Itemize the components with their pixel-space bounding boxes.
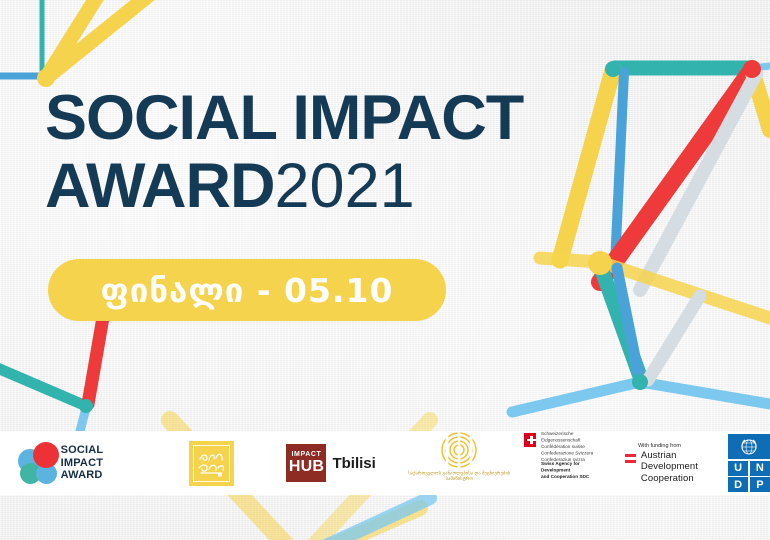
austrian-wordmark-line-2: Development (641, 461, 698, 473)
austrian-funding-note: With funding from (638, 442, 713, 448)
austrian-flag-stripe-bottom (625, 460, 636, 463)
swiss-agency-subtitle: Swiss Agency for Development and Coopera… (541, 461, 603, 480)
partner-logo-bar: SOCIAL IMPACT AWARD (0, 431, 770, 495)
swiss-subtitle-line-2: and Cooperation SDC (541, 473, 603, 479)
event-date-badge: ფინალი - 05.10 (48, 259, 446, 321)
impact-hub-mark-top: IMPACT (292, 451, 322, 458)
austrian-wordmark: Austrian Development Cooperation (641, 450, 698, 485)
headline-line-2: AWARD2021 (45, 156, 523, 216)
swiss-text-block: Schweizerische Eidgenossenschaft Confédé… (541, 431, 589, 475)
swiss-subtitle-line-1: Swiss Agency for Development (541, 461, 603, 474)
un-globe-wreath-icon (739, 437, 759, 457)
austrian-logo-row: Austrian Development Cooperation (625, 450, 698, 485)
logo-ministry-of-education: საქართველოს განათლებისა და მეცნიერების ს… (420, 431, 499, 495)
event-date-badge-label: ფინალი - 05.10 (101, 271, 394, 310)
calligraphy-script-icon (195, 448, 229, 478)
austrian-flag-icon (625, 454, 636, 463)
undp-letter-grid: U N D P (728, 461, 770, 493)
undp-letter-d: D (728, 477, 748, 492)
swiss-cross-icon (524, 433, 536, 447)
undp-logo-block: U N D P (728, 434, 770, 492)
impact-hub-mark-bottom: HUB (289, 459, 324, 475)
austrian-wordmark-line-3: Cooperation (641, 473, 698, 485)
logo-social-impact-award: SOCIAL IMPACT AWARD (18, 431, 135, 495)
logo-austrian-development-cooperation: With funding from Austrian Development C… (625, 431, 698, 495)
swiss-language-lines: Schweizerische Eidgenossenschaft Confédé… (541, 431, 603, 463)
poster-canvas: SOCIAL IMPACT AWARD2021 ფინალი - 05.10 S… (0, 0, 770, 540)
swiss-line-de: Schweizerische Eidgenossenschaft (541, 431, 603, 444)
logo-calligraphy-partner (135, 431, 234, 495)
impact-hub-city-label: Tbilisi (332, 455, 375, 472)
austrian-wordmark-line-1: Austrian (641, 450, 698, 462)
logo-undp: U N D P (698, 431, 770, 495)
headline-line-1: SOCIAL IMPACT (45, 88, 523, 148)
social-impact-award-wordmark: SOCIAL IMPACT AWARD (61, 444, 136, 482)
undp-letter-u: U (728, 461, 748, 476)
headline-main-text: SOCIAL IMPACT (45, 83, 523, 153)
calligraphy-square-icon (189, 441, 234, 486)
undp-letter-n: N (750, 461, 770, 476)
ministry-radial-icon (440, 431, 478, 469)
undp-letter-p: P (750, 477, 770, 492)
headline-award-text: AWARD (45, 151, 275, 221)
sia-wordmark-line-2: AWARD (61, 469, 136, 482)
social-impact-award-flower-icon (18, 442, 54, 484)
headline-year-text: 2021 (275, 151, 415, 221)
impact-hub-mark-icon: IMPACT HUB (286, 444, 326, 482)
ministry-caption: საქართველოს განათლებისა და მეცნიერების ს… (406, 470, 512, 482)
poster-headline: SOCIAL IMPACT AWARD2021 (45, 88, 523, 217)
logo-impact-hub-tbilisi: IMPACT HUB Tbilisi (286, 431, 375, 495)
logo-swiss-agency-sdc: Schweizerische Eidgenossenschaft Confédé… (524, 431, 588, 495)
petal-red-icon (33, 442, 59, 468)
un-emblem-icon (728, 434, 770, 459)
sia-wordmark-line-1: SOCIAL IMPACT (61, 444, 136, 469)
